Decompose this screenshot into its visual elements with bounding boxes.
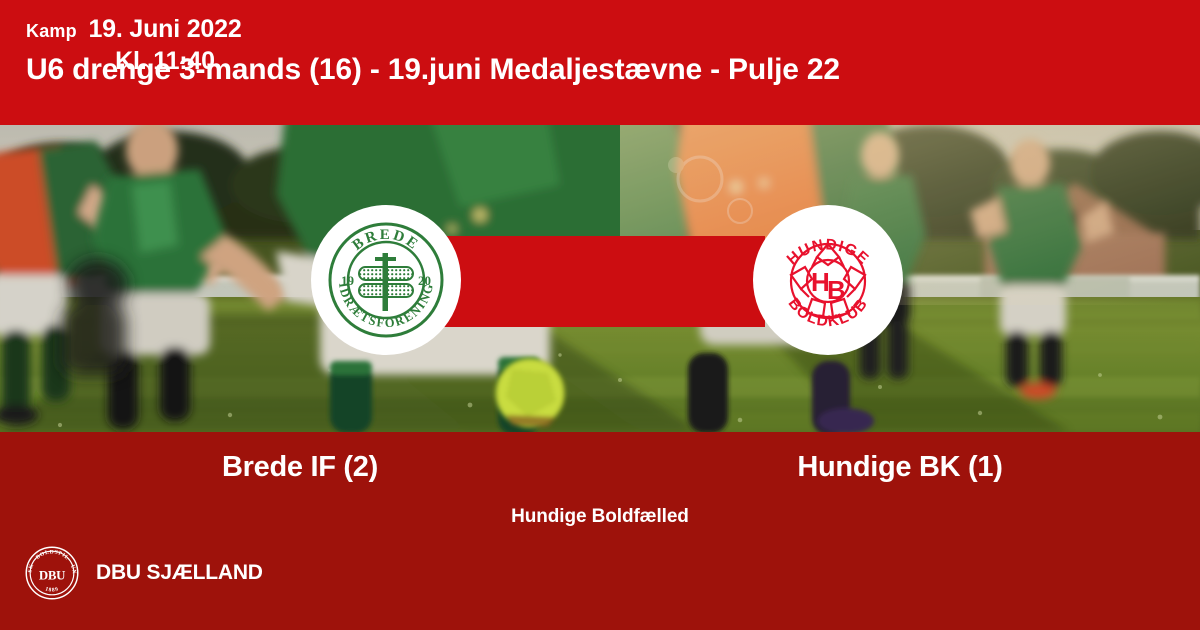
svg-text:1889: 1889 <box>44 586 59 593</box>
away-team-name: Hundige BK (1) <box>600 451 1200 484</box>
svg-text:19: 19 <box>341 273 355 288</box>
teams-row: Brede IF (2) Hundige BK (1) <box>0 451 1200 484</box>
match-poster: Kamp U6 drenge 3-mands (16) - 19.juni Me… <box>0 0 1200 630</box>
hundige-bk-crest-icon: H B HUNDIGE BOLDKLUB <box>765 217 891 343</box>
brede-if-crest-icon: BREDE IDRÆTSFORENING 19 20 <box>323 217 449 343</box>
org-name: DBU SJÆLLAND <box>96 561 263 585</box>
match-time: Kl. 11:40 <box>115 46 215 78</box>
svg-text:20: 20 <box>418 273 431 288</box>
venue-name: Hundige Boldfælled <box>0 506 1200 528</box>
home-team-name: Brede IF (2) <box>0 451 600 484</box>
match-datetime-band <box>435 236 765 327</box>
footer-branding: DANSK · BOLDSPIL · UNION DBU 1889 DBU SJ… <box>24 545 263 601</box>
home-club-logo: BREDE IDRÆTSFORENING 19 20 <box>311 205 461 355</box>
svg-text:B: B <box>827 275 846 305</box>
svg-text:DBU: DBU <box>39 569 65 583</box>
match-datetime: 19. Juni 2022 Kl. 11:40 <box>0 0 330 91</box>
dbu-emblem-icon: DANSK · BOLDSPIL · UNION DBU 1889 <box>24 545 80 601</box>
away-club-logo: H B HUNDIGE BOLDKLUB <box>753 205 903 355</box>
match-date: 19. Juni 2022 <box>88 14 241 46</box>
